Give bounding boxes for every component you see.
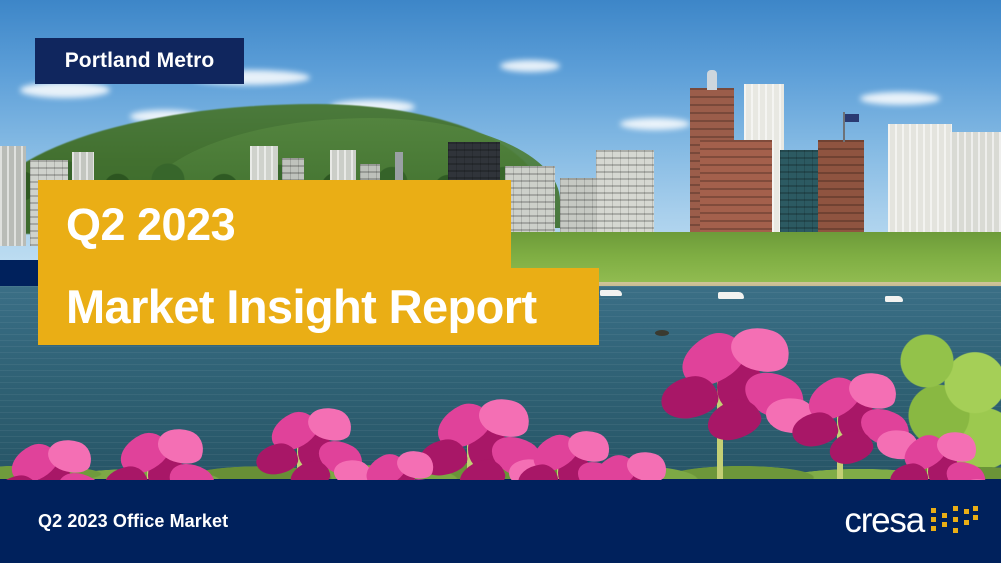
building	[0, 146, 26, 246]
logo-dot	[931, 517, 936, 522]
boat	[718, 292, 744, 299]
logo-dot	[931, 508, 936, 513]
title-line-1-bar: Q2 2023	[38, 180, 511, 268]
logo-dot	[964, 509, 969, 514]
footer-bar: Q2 2023 Office Market cresa	[0, 479, 1001, 563]
logo-dot	[942, 513, 947, 518]
title-block: Q2 2023 Market Insight Report	[38, 180, 599, 345]
region-badge: Portland Metro	[35, 38, 244, 84]
region-badge-label: Portland Metro	[65, 49, 215, 73]
cresa-logo: cresa	[844, 501, 1001, 541]
footer-label: Q2 2023 Office Market	[0, 511, 228, 532]
logo-dot	[953, 528, 958, 533]
logo-dot	[942, 522, 947, 527]
logo-dot	[973, 515, 978, 520]
boat	[600, 290, 622, 296]
title-line-1: Q2 2023	[38, 202, 235, 247]
logo-dot	[931, 526, 936, 531]
building-spire	[707, 70, 717, 90]
logo-dot	[953, 506, 958, 511]
cresa-wordmark: cresa	[844, 501, 924, 541]
logo-dot	[953, 517, 958, 522]
logo-dot	[973, 506, 978, 511]
flag	[845, 114, 859, 122]
title-line-2-bar: Market Insight Report	[38, 268, 599, 345]
cresa-dots-icon	[929, 504, 975, 538]
logo-dot	[964, 520, 969, 525]
title-line-2: Market Insight Report	[38, 283, 537, 330]
report-cover-slide: Portland Metro Q2 2023 Market Insight Re…	[0, 0, 1001, 563]
